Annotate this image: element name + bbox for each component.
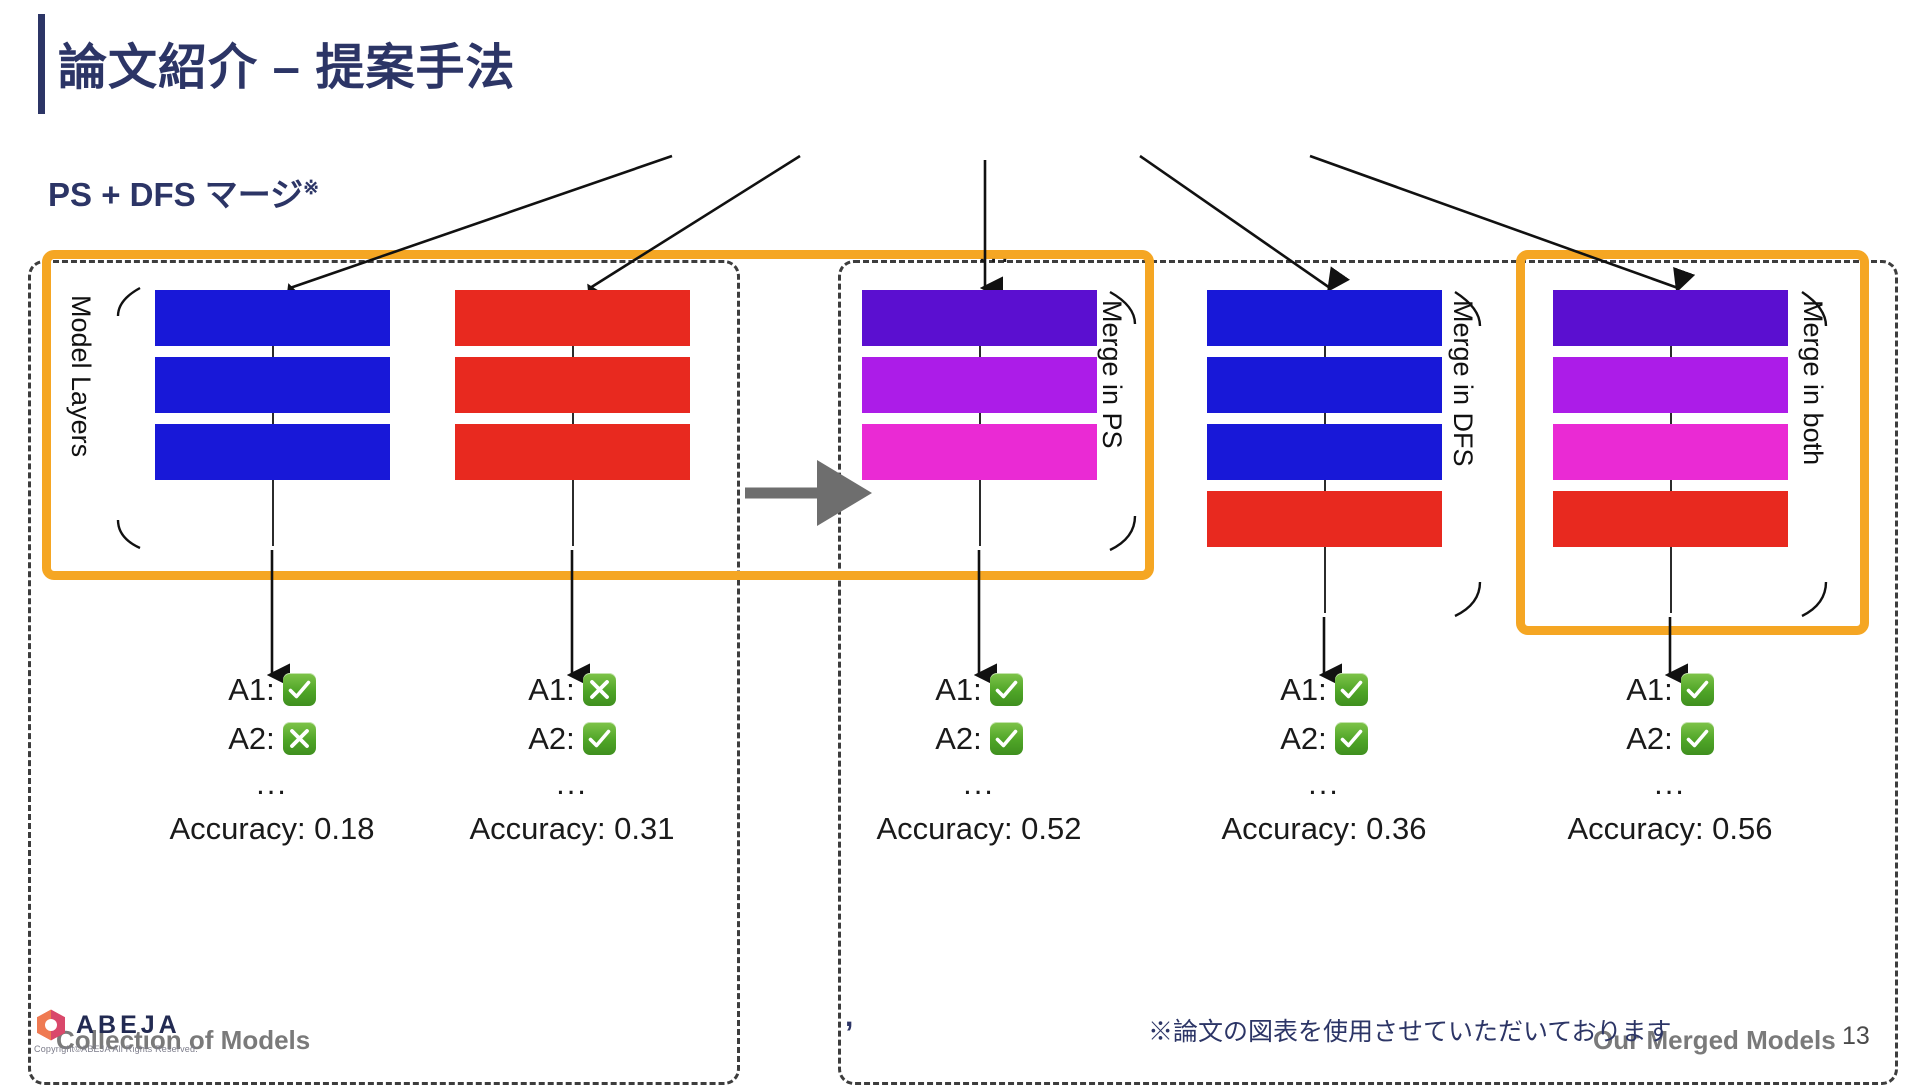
top-ellipsis: ... [978, 236, 1012, 270]
model-stack-merged-ps [862, 290, 1097, 480]
assertion-label: A2: [528, 723, 575, 754]
assertion-label: A2: [1280, 723, 1327, 754]
check-mark-icon [583, 722, 616, 755]
model-layer-block [1553, 290, 1788, 346]
assertion-row-a2: A2: [122, 719, 422, 757]
check-mark-icon [1681, 722, 1714, 755]
assertion-label: A1: [935, 674, 982, 705]
connector-arrows-layer [0, 120, 1920, 980]
check-mark-icon [990, 673, 1023, 706]
result-model-a: A1:A2:...Accuracy: 0.18 [122, 670, 422, 847]
model-layer-block [1207, 357, 1442, 413]
assertion-label: A1: [528, 674, 575, 705]
assertion-ellipsis: ... [422, 768, 722, 799]
check-mark-icon [1335, 673, 1368, 706]
copyright-text: Copyright©ABEJA All Rights Reserved. [34, 1044, 198, 1054]
result-model-b: A1:A2:...Accuracy: 0.31 [422, 670, 722, 847]
model-layer-block [862, 290, 1097, 346]
model-stack-model-b [455, 290, 690, 480]
assertion-label: A2: [1626, 723, 1673, 754]
abeja-wordmark: ABEJA [76, 1011, 181, 1040]
model-layer-block [1207, 424, 1442, 480]
page-number: 13 [1842, 1022, 1870, 1051]
assertion-row-a1: A1: [422, 670, 722, 708]
model-layer-block [1207, 491, 1442, 547]
assertion-label: A1: [228, 674, 275, 705]
model-layer-block [455, 424, 690, 480]
assertion-row-a1: A1: [1520, 670, 1820, 708]
axis-label-model-layers: Model Layers [65, 295, 96, 457]
axis-label-merge-in-both: Merge in both [1797, 300, 1828, 465]
model-layer-block [862, 424, 1097, 480]
cross-mark-icon [583, 673, 616, 706]
check-mark-icon [1335, 722, 1368, 755]
check-mark-icon [283, 673, 316, 706]
check-mark-icon [1681, 673, 1714, 706]
model-stack-merged-both [1553, 290, 1788, 547]
model-layer-block [155, 357, 390, 413]
assertion-row-a1: A1: [1174, 670, 1474, 708]
figure-diagram: ... Model Layers Merge in PS Merge in DF… [0, 120, 1920, 980]
title-accent-bar [38, 14, 45, 114]
assertion-row-a1: A1: [122, 670, 422, 708]
assertion-label: A1: [1626, 674, 1673, 705]
model-layer-block [455, 290, 690, 346]
model-layer-block [1207, 290, 1442, 346]
brand-logo-area: ABEJA Copyright©ABEJA All Rights Reserve… [34, 1008, 198, 1054]
model-layer-block [1553, 491, 1788, 547]
accuracy-readout: Accuracy: 0.56 [1520, 811, 1820, 847]
model-stack-merged-dfs [1207, 290, 1442, 547]
assertion-row-a2: A2: [422, 719, 722, 757]
model-layer-block [862, 357, 1097, 413]
cross-mark-icon [283, 722, 316, 755]
accuracy-readout: Accuracy: 0.52 [829, 811, 1129, 847]
model-layer-block [1553, 424, 1788, 480]
assertion-row-a1: A1: [829, 670, 1129, 708]
assertion-ellipsis: ... [1520, 768, 1820, 799]
check-mark-icon [990, 722, 1023, 755]
assertion-row-a2: A2: [1520, 719, 1820, 757]
abeja-hex-logo-icon [34, 1008, 68, 1042]
axis-label-merge-in-ps: Merge in PS [1096, 300, 1127, 449]
page-title: 論文紹介 – 提案手法 [58, 28, 515, 99]
assertion-label: A1: [1280, 674, 1327, 705]
accuracy-readout: Accuracy: 0.31 [422, 811, 722, 847]
model-stack-model-a [155, 290, 390, 480]
assertion-ellipsis: ... [122, 768, 422, 799]
assertion-ellipsis: ... [1174, 768, 1474, 799]
assertion-ellipsis: ... [829, 768, 1129, 799]
stray-comma-artifact: , [845, 1000, 853, 1034]
axis-label-merge-in-dfs: Merge in DFS [1447, 300, 1478, 467]
assertion-row-a2: A2: [829, 719, 1129, 757]
assertion-row-a2: A2: [1174, 719, 1474, 757]
result-merged-ps: A1:A2:...Accuracy: 0.52 [829, 670, 1129, 847]
footnote-text: ※論文の図表を使用させていただいております [1148, 1012, 1672, 1048]
model-layer-block [1553, 357, 1788, 413]
model-layer-block [155, 424, 390, 480]
result-merged-dfs: A1:A2:...Accuracy: 0.36 [1174, 670, 1474, 847]
accuracy-readout: Accuracy: 0.36 [1174, 811, 1474, 847]
accuracy-readout: Accuracy: 0.18 [122, 811, 422, 847]
model-layer-block [455, 357, 690, 413]
result-merged-both: A1:A2:...Accuracy: 0.56 [1520, 670, 1820, 847]
model-layer-block [155, 290, 390, 346]
assertion-label: A2: [935, 723, 982, 754]
assertion-label: A2: [228, 723, 275, 754]
